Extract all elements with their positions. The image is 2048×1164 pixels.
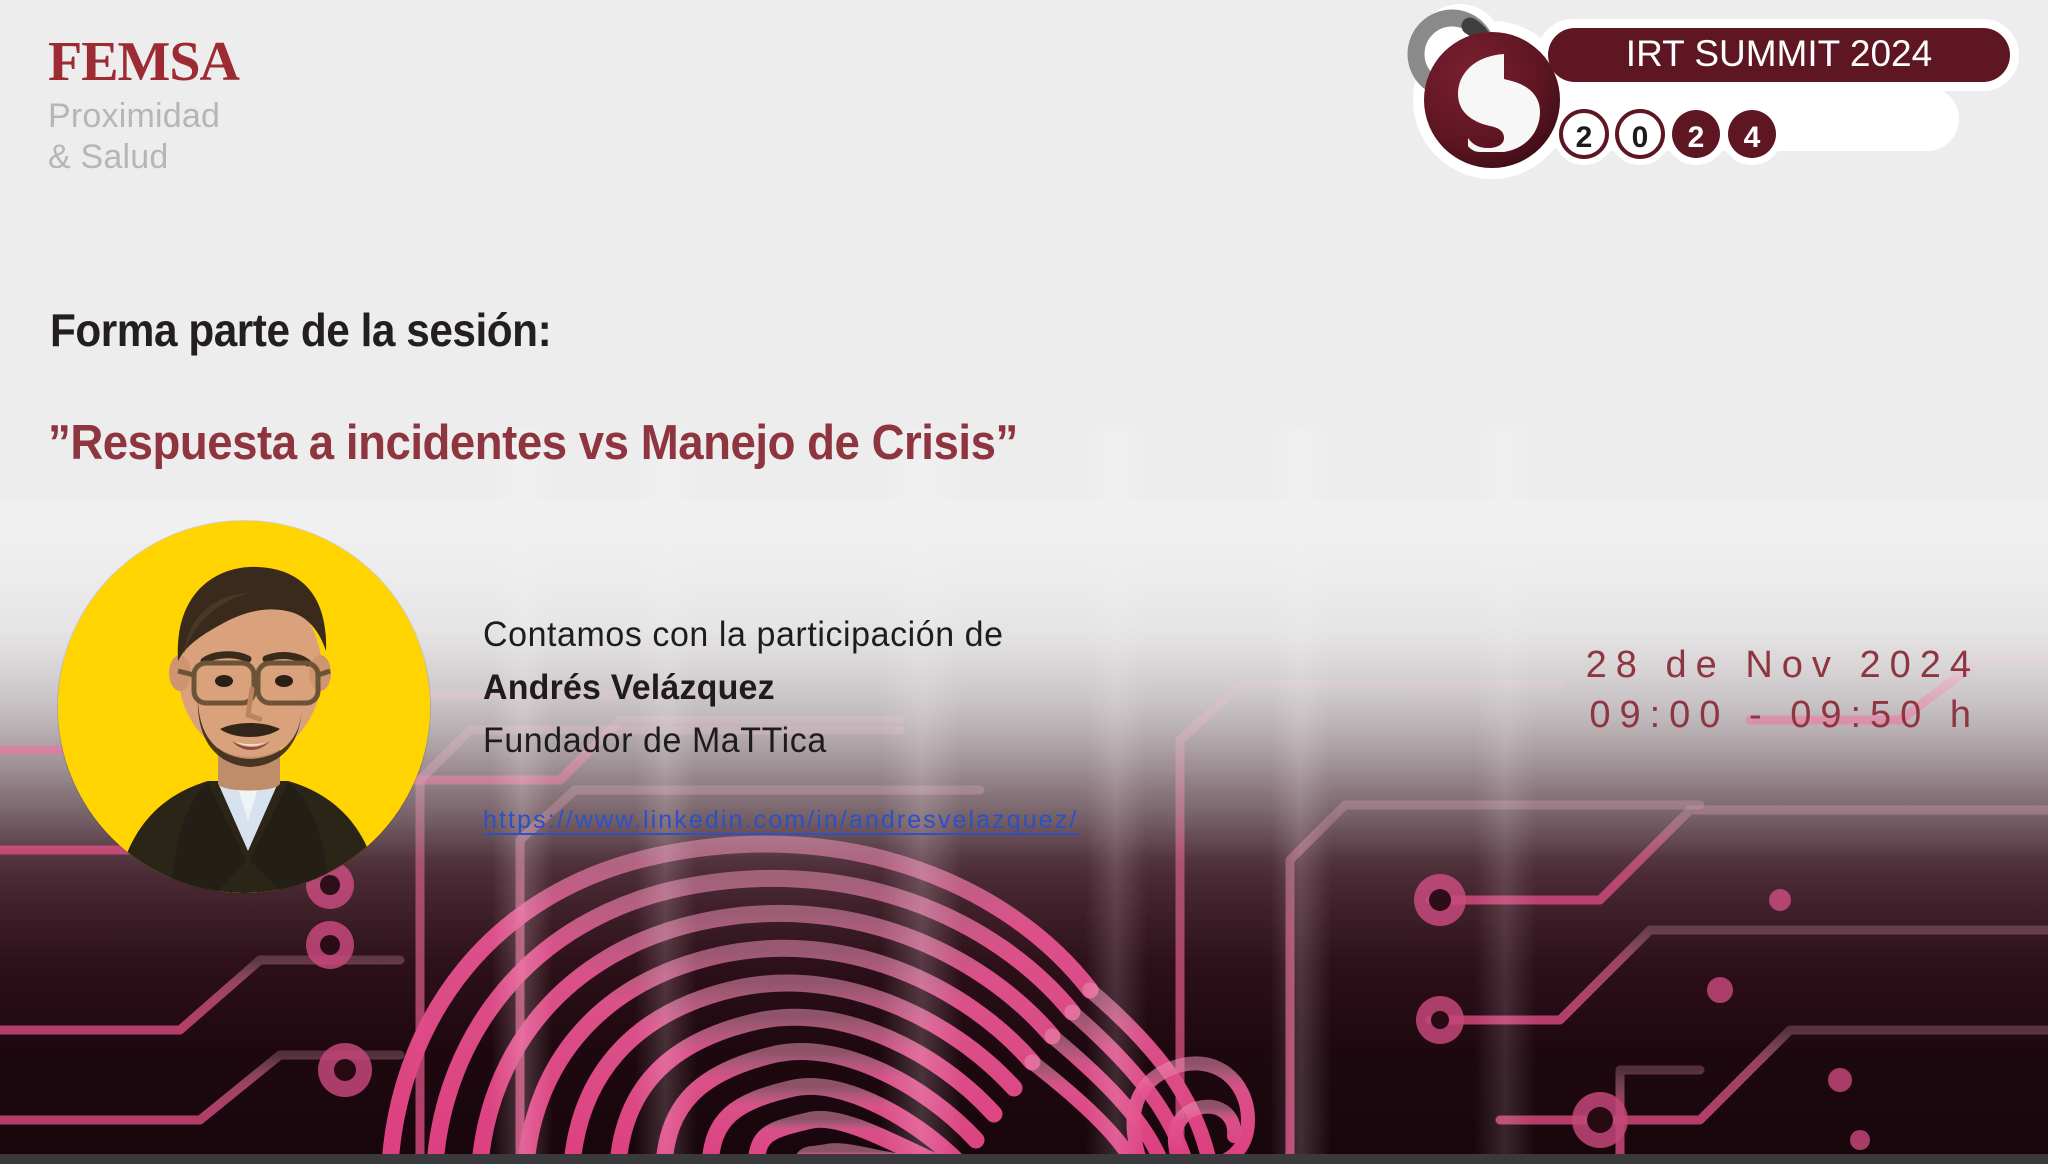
session-title: ”Respuesta a incidentes vs Manejo de Cri… [48,415,1018,471]
femsa-tagline-line2: & Salud [48,137,368,178]
year-digit-2: 0 [1632,121,1649,154]
femsa-wordmark: FEMSA [48,34,368,90]
year-digit-1: 2 [1576,121,1593,154]
speaker-info: Contamos con la participación de Andrés … [483,608,1020,767]
irt-summit-title: IRT SUMMIT 2024 [1626,33,1932,74]
speaker-avatar [58,521,430,893]
speaker-intro: Contamos con la participación de [483,608,1004,661]
schedule-time: 09:00 - 09:50 h [1586,690,1980,740]
year-digit-4: 4 [1744,121,1761,154]
linkedin-link[interactable]: https://www.linkedin.com/in/andresvelazq… [483,806,1078,835]
femsa-logo: FEMSA Proximidad & Salud [48,34,368,179]
speaker-name: Andrés Velázquez [483,661,1004,714]
speaker-role: Fundador de MaTTica [483,714,1004,767]
bottom-bar [0,1154,2048,1164]
irt-summit-logo: IRT SUMMIT 2024 2 0 2 4 [1388,2,2028,182]
femsa-tagline-line1: Proximidad [48,96,368,137]
schedule-block: 28 de Nov 2024 09:00 - 09:50 h [1586,640,1980,740]
femsa-tagline: Proximidad & Salud [48,96,368,179]
schedule-date: 28 de Nov 2024 [1586,640,1980,690]
year-digit-3: 2 [1688,121,1705,154]
event-poster: FEMSA Proximidad & Salud [0,0,2048,1164]
invite-headline: Forma parte de la sesión: [50,303,551,357]
